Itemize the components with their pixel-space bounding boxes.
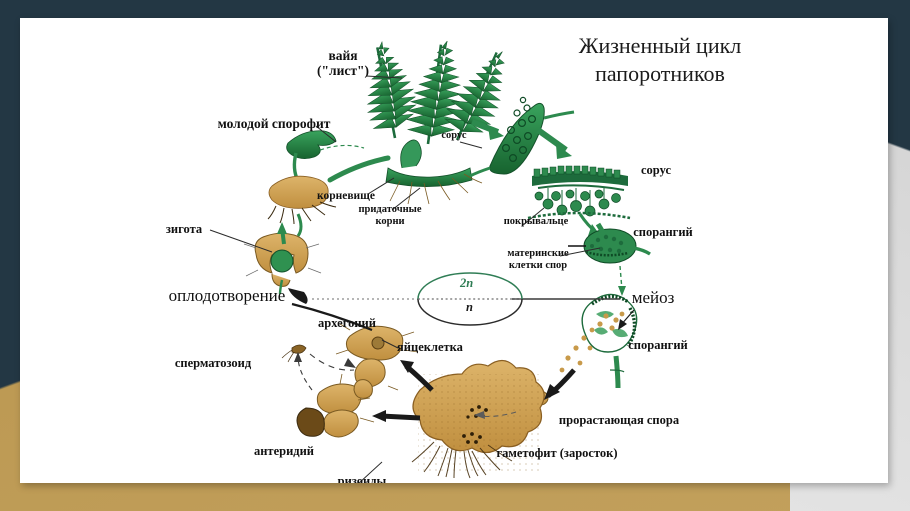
label-rizoidy: ризоиды: [326, 474, 398, 483]
label-prorastayushchaya-spora: прорастающая спора: [542, 413, 696, 427]
rhizome-illustration: [386, 140, 482, 204]
label-haploid-n: n: [466, 300, 473, 315]
slide: Жизненный цикл папоротников вайя ("лист"…: [0, 0, 910, 511]
label-materinskie-kletki-spor: материнские клетки спор: [498, 248, 578, 272]
page-title: Жизненный цикл папоротников: [510, 32, 810, 87]
gametophyte-prothallus-illustration: [412, 360, 544, 478]
label-vaya: вайя ("лист"): [302, 48, 384, 78]
label-gametofit: гаметофит (заросток): [472, 446, 642, 460]
label-sorus-right: сорус: [628, 163, 684, 177]
label-pokryvaltse: покрывальце: [498, 216, 574, 228]
diagram-canvas: Жизненный цикл папоротников вайя ("лист"…: [20, 18, 888, 483]
label-spermatozoid: сперматозоид: [160, 356, 266, 370]
young-sporophyte-illustration: [268, 131, 336, 236]
label-kornevishche: корневище: [308, 190, 384, 203]
label-pridatochnye-korni: придаточные корни: [350, 204, 430, 228]
label-anteridiy: антеридий: [244, 444, 324, 458]
label-sporangiy-top: спорангий: [626, 225, 700, 239]
fern-life-cycle-illustration: [20, 18, 888, 483]
label-molodoy-sporofit: молодой спорофит: [194, 116, 354, 131]
label-diploid-2n: 2n: [460, 276, 473, 291]
label-sporangiy-bottom: спорангий: [620, 338, 696, 352]
label-zigota: зигота: [156, 222, 212, 236]
label-oplodotvorenie: оплодотворение: [142, 286, 312, 305]
sorus-on-pinna-illustration: [470, 97, 574, 176]
label-meyoz: мейоз: [616, 288, 690, 307]
label-arhegoniy: архегоний: [308, 316, 386, 330]
label-sorus-leaf: сорус: [430, 130, 478, 142]
spermatozoid-illustration: [282, 345, 306, 362]
label-yaytsekletka: яйцеклетка: [388, 340, 472, 354]
